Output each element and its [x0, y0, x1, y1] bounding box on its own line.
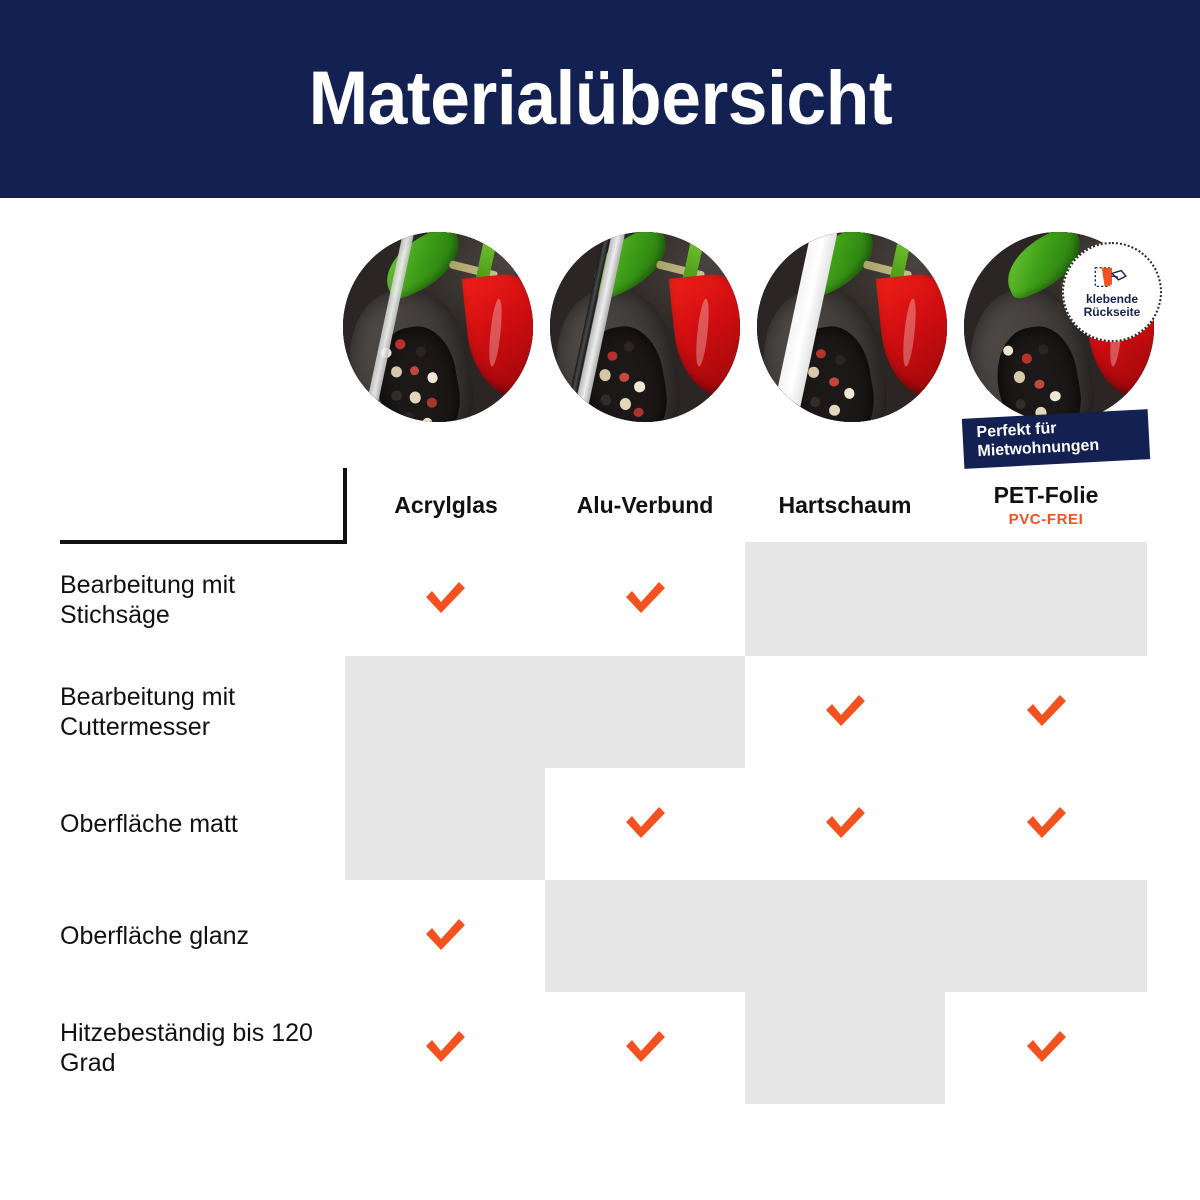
cell-unsupported: [345, 656, 545, 768]
check-icon: [422, 1026, 468, 1066]
column-header-label: Alu-Verbund: [577, 492, 714, 518]
badge-line-2: Rückseite: [1084, 306, 1141, 319]
check-icon: [1023, 802, 1069, 842]
cell-unsupported: [945, 880, 1147, 992]
column-header-label: Hartschaum: [779, 492, 912, 518]
cell-supported: [345, 542, 545, 656]
product-photo: [757, 232, 947, 422]
check-icon: [622, 1026, 668, 1066]
check-icon: [622, 577, 668, 617]
table-row: Bearbeitung mit Cuttermesser: [60, 656, 1147, 768]
table-row: Oberfläche glanz: [60, 880, 1147, 992]
cell-unsupported: [545, 656, 745, 768]
perfekt-fuer-mietwohnungen-ribbon: Perfekt für Mietwohnungen: [962, 409, 1150, 469]
check-icon: [1023, 1026, 1069, 1066]
check-icon: [822, 690, 868, 730]
row-label: Oberfläche glanz: [60, 880, 345, 992]
cell-supported: [945, 768, 1147, 880]
cell-unsupported: [745, 880, 945, 992]
cell-supported: [945, 992, 1147, 1104]
cell-supported: [345, 992, 545, 1104]
check-icon: [422, 577, 468, 617]
check-icon: [622, 802, 668, 842]
check-icon: [822, 802, 868, 842]
column-header-hartschaum: Hartschaum: [745, 468, 945, 542]
table-row: Bearbeitung mit Stichsäge: [60, 542, 1147, 656]
row-label: Hitzebeständig bis 120 Grad: [60, 992, 345, 1104]
product-photo: [550, 232, 740, 422]
cell-supported: [545, 992, 745, 1104]
column-header-label: Acrylglas: [394, 492, 498, 518]
table-body: Bearbeitung mit StichsägeBearbeitung mit…: [60, 542, 1147, 1104]
row-label: Bearbeitung mit Cuttermesser: [60, 656, 345, 768]
column-header-label: PET-Folie: [994, 482, 1099, 508]
cell-supported: [745, 656, 945, 768]
material-comparison-table: Acrylglas Alu-Verbund Hartschaum PET-Fol…: [60, 468, 1147, 1104]
table-row: Hitzebeständig bis 120 Grad: [60, 992, 1147, 1104]
row-label: Oberfläche matt: [60, 768, 345, 880]
table-row: Oberfläche matt: [60, 768, 1147, 880]
product-thumbnail-hartschaum[interactable]: [757, 232, 947, 422]
klebende-rueckseite-badge: klebende Rückseite: [1062, 242, 1162, 342]
cell-supported: [345, 880, 545, 992]
cell-unsupported: [745, 992, 945, 1104]
column-header-acrylglas: Acrylglas: [345, 468, 545, 542]
product-thumbnail-acrylglas[interactable]: [343, 232, 533, 422]
cell-unsupported: [945, 542, 1147, 656]
badge-line-1: klebende: [1086, 293, 1138, 306]
product-photo: [343, 232, 533, 422]
cell-supported: [545, 768, 745, 880]
table-corner-cell: [60, 468, 345, 542]
product-thumbnail-row: [0, 232, 1200, 432]
check-icon: [1023, 690, 1069, 730]
cell-supported: [745, 768, 945, 880]
table-header-row: Acrylglas Alu-Verbund Hartschaum PET-Fol…: [60, 468, 1147, 542]
row-label: Bearbeitung mit Stichsäge: [60, 542, 345, 656]
check-icon: [422, 914, 468, 954]
cell-unsupported: [545, 880, 745, 992]
cell-unsupported: [745, 542, 945, 656]
peppercorn-fill: [988, 321, 1087, 422]
column-header-pet-folie: PET-Folie PVC-FREI: [945, 468, 1147, 542]
column-header-sublabel: PVC-FREI: [945, 511, 1147, 528]
cell-supported: [945, 656, 1147, 768]
cell-supported: [545, 542, 745, 656]
cell-unsupported: [345, 768, 545, 880]
column-header-alu-verbund: Alu-Verbund: [545, 468, 745, 542]
product-thumbnail-alu-verbund[interactable]: [550, 232, 740, 422]
page-title: Materialübersicht: [308, 61, 892, 137]
header-banner: Materialübersicht: [0, 0, 1200, 198]
peel-sticker-icon: [1093, 265, 1131, 291]
